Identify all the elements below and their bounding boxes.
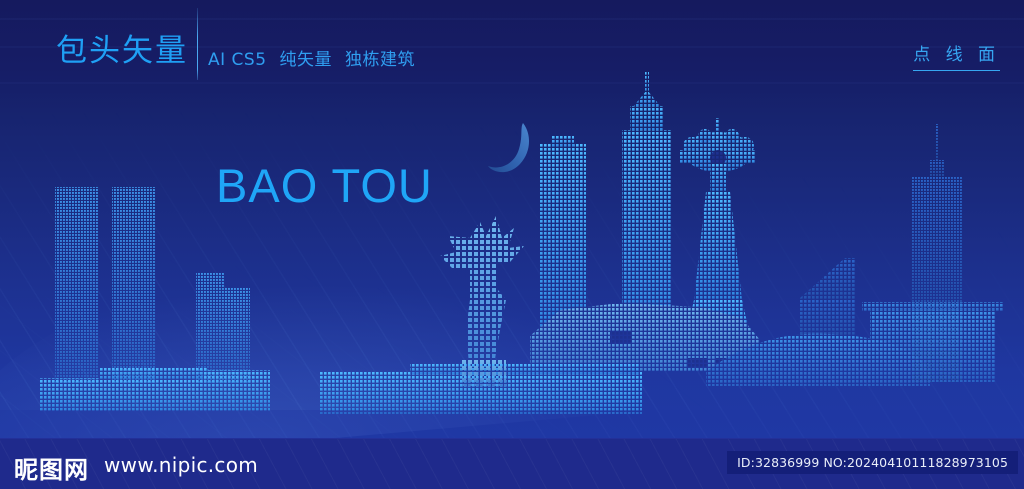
building-notched-block [196,272,250,384]
site-logo[interactable]: 昵图网 [14,450,89,485]
crescent-moon-icon [487,121,533,175]
asset-id-badge: ID:32836999 NO:20240410111828973105 [727,451,1018,474]
subtitle-part-2: 独栋建筑 [345,50,415,70]
poster-canvas: BAO TOU 包头矢量 AI CS5纯矢量独栋建筑 点 线 面 昵图网 www… [0,0,1024,489]
ground-base [0,410,1024,440]
city-name: BAO TOU [216,158,433,213]
subtitle-part-1: 纯矢量 [280,50,333,70]
subtitle-part-0: AI CS5 [208,50,267,70]
header-bar: 包头矢量 AI CS5纯矢量独栋建筑 点 线 面 [0,0,1024,96]
sculpture-deer [440,216,524,386]
header-divider [197,8,198,80]
building-twin-towers [55,187,156,383]
footer-bar: 昵图网 www.nipic.com ID:32836999 NO:2024041… [0,438,1024,489]
header-tagline[interactable]: 点 线 面 [913,40,1000,71]
site-url[interactable]: www.nipic.com [104,453,258,477]
page-title: 包头矢量 [56,25,188,70]
header-subtitle: AI CS5纯矢量独栋建筑 [208,45,428,70]
